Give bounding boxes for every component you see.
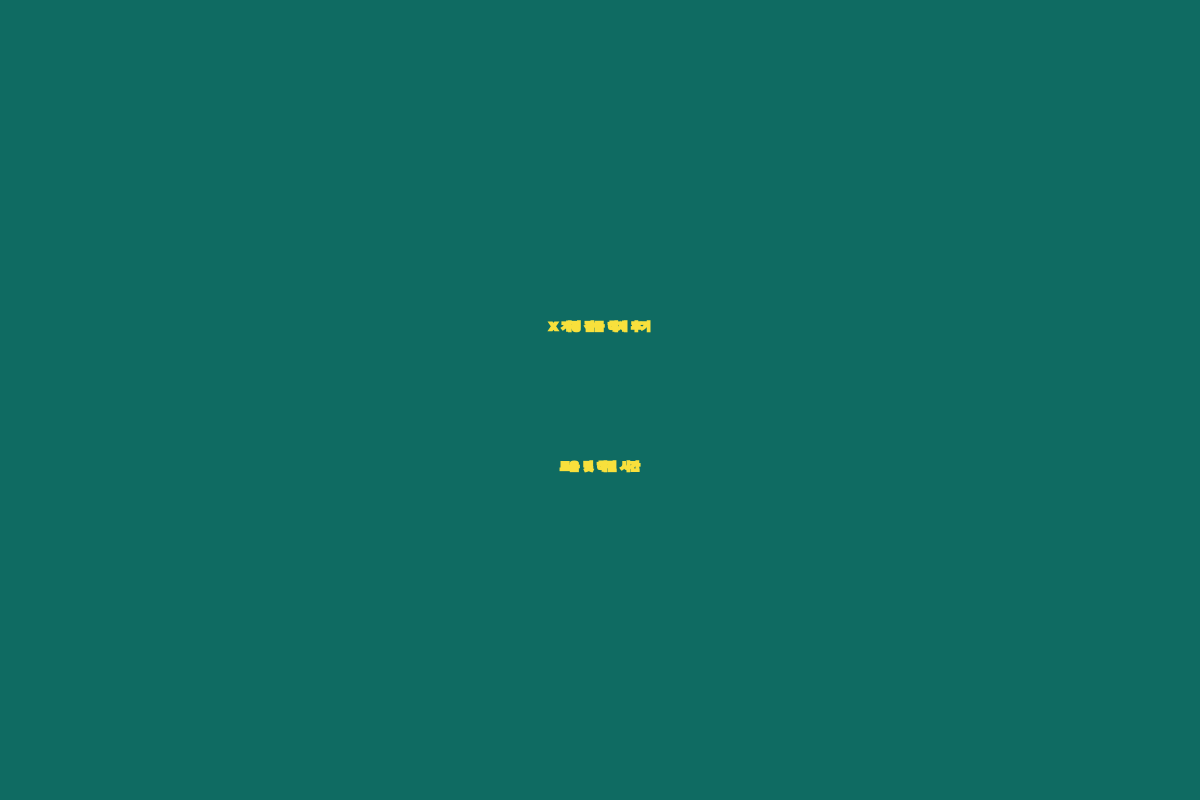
headline-block: X 계정 잠금 해제 후기 모음 및 해결 시간 xyxy=(0,258,1200,538)
banner-canvas: X 계정 잠금 해제 후기 모음 및 해결 시간 xyxy=(0,0,1200,800)
headline-line-2: 모음 및 해결 시간 xyxy=(0,398,1200,538)
headline-line-1: X 계정 잠금 해제 후기 xyxy=(0,258,1200,398)
